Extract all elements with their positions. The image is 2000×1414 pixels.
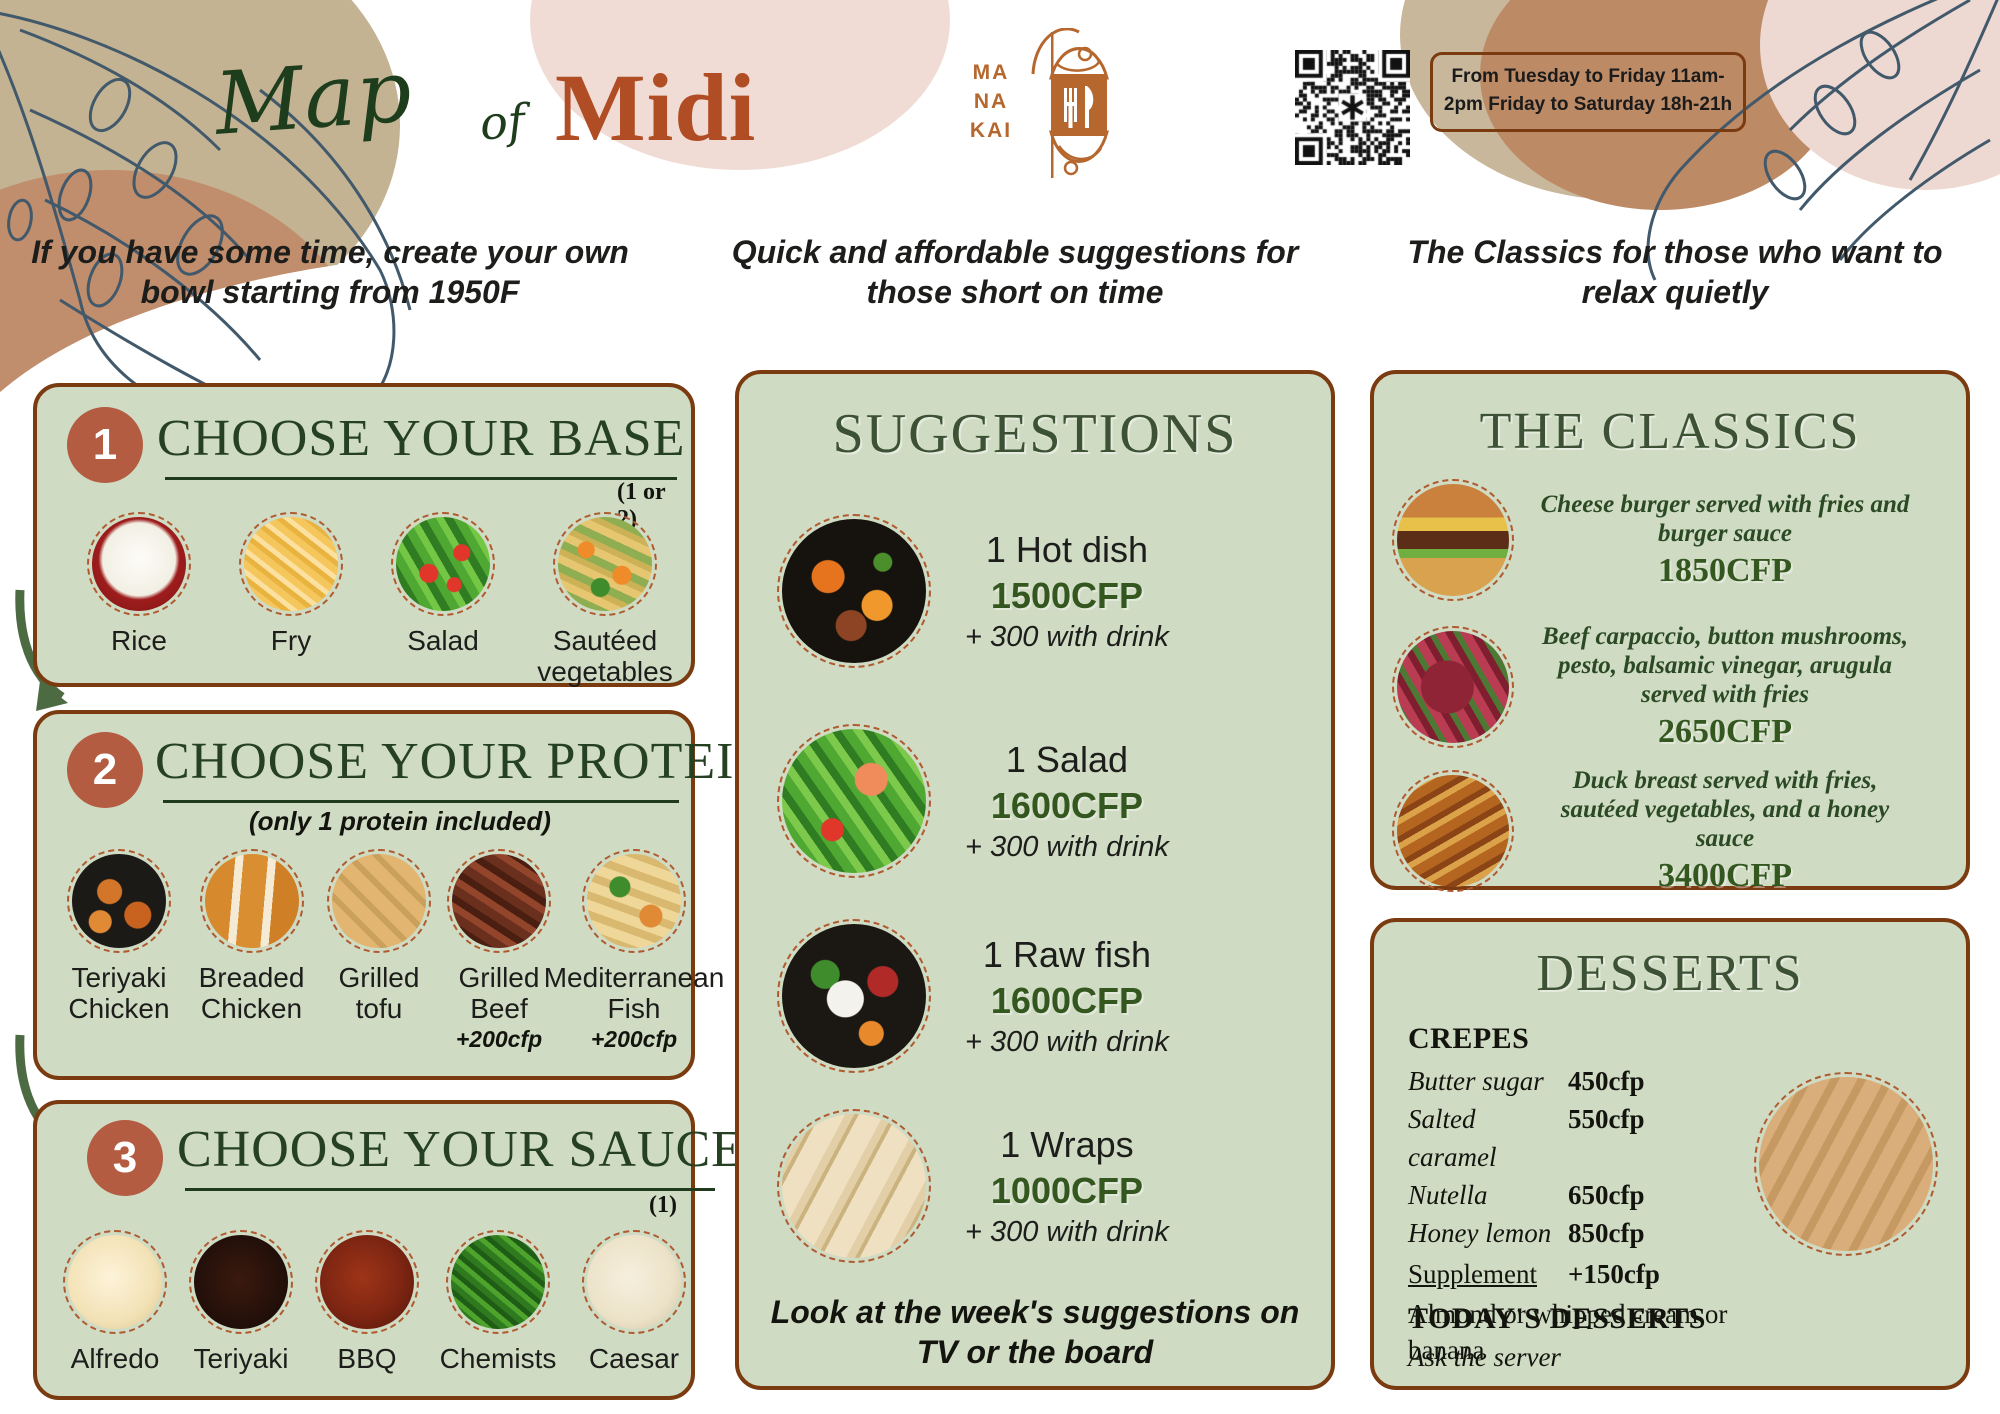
protein-item-extra: +200cfp bbox=[591, 1026, 677, 1053]
supplement-price: +150cfp bbox=[1568, 1254, 1660, 1294]
sauteed-vegetables-image bbox=[553, 512, 657, 616]
base-item-label: Rice bbox=[111, 625, 167, 656]
brand-script-title: Map bbox=[212, 41, 416, 155]
raw-fish-image bbox=[777, 919, 931, 1073]
classics-card: THE CLASSICS Cheese burger served with f… bbox=[1370, 370, 1970, 890]
sauce-item-label: Caesar bbox=[589, 1343, 679, 1374]
sauce-item[interactable]: BBQ bbox=[317, 1230, 417, 1374]
crepe-row: Butter sugar 450cfp bbox=[1408, 1062, 1728, 1100]
protein-title-rule bbox=[163, 800, 679, 803]
protein-item-extra: +200cfp bbox=[456, 1026, 542, 1053]
teriyaki-chicken-image bbox=[67, 849, 171, 953]
crepe-name: Butter sugar bbox=[1408, 1062, 1568, 1100]
page-header: Map of Midi MANAKAI From Tuesday to Frid… bbox=[0, 0, 2000, 250]
cheeseburger-image bbox=[1392, 479, 1514, 601]
desserts-title: DESSERTS bbox=[1374, 944, 1966, 1003]
classics-title: THE CLASSICS bbox=[1374, 402, 1966, 461]
protein-note: (only 1 protein included) bbox=[249, 806, 551, 837]
manakai-logo: MANAKAI bbox=[965, 20, 1115, 180]
protein-item[interactable]: Teriyaki Chicken bbox=[59, 849, 179, 1053]
sauce-item-label: Chemists bbox=[440, 1343, 557, 1374]
protein-item-label: Grilled tofu bbox=[324, 962, 434, 1024]
suggestion-addon: + 300 with drink bbox=[965, 621, 1169, 654]
suggestions-card: SUGGESTIONS 1 Hot dish 1500CFP + 300 wit… bbox=[735, 370, 1335, 1390]
logo-mark-icon bbox=[1027, 28, 1109, 180]
salad-dish-image bbox=[777, 724, 931, 878]
classic-row[interactable]: Beef carpaccio, button mushrooms, pesto,… bbox=[1392, 622, 1910, 751]
protein-item[interactable]: Grilled Beef +200cfp bbox=[444, 849, 554, 1053]
supplement-row: Supplement +150cfp bbox=[1408, 1254, 1728, 1294]
sauce-item-label: BBQ bbox=[337, 1343, 396, 1374]
fries-image bbox=[239, 512, 343, 616]
crepe-image bbox=[1754, 1072, 1938, 1256]
grilled-tofu-image bbox=[327, 849, 431, 953]
hot-dish-image bbox=[777, 514, 931, 668]
sauce-item-label: Teriyaki bbox=[194, 1343, 289, 1374]
classic-row[interactable]: Cheese burger served with fries and burg… bbox=[1392, 479, 1910, 601]
suggestions-title: SUGGESTIONS bbox=[739, 402, 1331, 466]
crepe-name: Salted caramel bbox=[1408, 1100, 1568, 1176]
classic-row[interactable]: Duck breast served with fries, sautéed v… bbox=[1392, 766, 1910, 895]
protein-item-label: Breaded Chicken bbox=[189, 962, 314, 1024]
suggestion-row[interactable]: 1 Raw fish 1600CFP + 300 with drink bbox=[777, 919, 1169, 1073]
base-title: CHOOSE YOUR BASE bbox=[157, 409, 685, 468]
middle-column-subhead: Quick and affordable suggestions for tho… bbox=[730, 232, 1300, 312]
classic-desc: Duck breast served with fries, sautéed v… bbox=[1540, 766, 1910, 853]
left-column-subhead: If you have some time, create your own b… bbox=[30, 232, 630, 312]
crepe-price: 850cfp bbox=[1568, 1214, 1645, 1252]
classic-desc: Cheese burger served with fries and burg… bbox=[1540, 490, 1910, 548]
protein-item[interactable]: Mediterranean Fish +200cfp bbox=[564, 849, 704, 1053]
sauce-title-rule bbox=[185, 1188, 715, 1191]
sauce-item[interactable]: Chemists bbox=[443, 1230, 553, 1374]
opening-hours: From Tuesday to Friday 11am-2pm Friday t… bbox=[1430, 52, 1746, 132]
crepe-price: 450cfp bbox=[1568, 1062, 1645, 1100]
protein-step-badge: 2 bbox=[67, 732, 143, 808]
today-desserts-heading: TODAY'S DESSERTS bbox=[1408, 1302, 1706, 1336]
protein-items: Teriyaki Chicken Breaded Chicken Grilled… bbox=[59, 849, 704, 1053]
suggestion-name: 1 Salad bbox=[965, 739, 1169, 781]
mediterranean-fish-image bbox=[582, 849, 686, 953]
right-column-subhead: The Classics for those who want to relax… bbox=[1370, 232, 1980, 312]
suggestion-row[interactable]: 1 Salad 1600CFP + 300 with drink bbox=[777, 724, 1169, 878]
bbq-sauce-image bbox=[315, 1230, 419, 1334]
sauce-item[interactable]: Alfredo bbox=[65, 1230, 165, 1374]
qr-code[interactable] bbox=[1295, 50, 1410, 165]
suggestion-addon: + 300 with drink bbox=[965, 1216, 1169, 1249]
caesar-sauce-image bbox=[582, 1230, 686, 1334]
classic-price: 2650CFP bbox=[1540, 713, 1910, 751]
protein-item[interactable]: Breaded Chicken bbox=[189, 849, 314, 1053]
base-item-label: Salad bbox=[407, 625, 479, 656]
suggestion-row[interactable]: 1 Wraps 1000CFP + 300 with drink bbox=[777, 1109, 1169, 1263]
rice-bowl-image bbox=[87, 512, 191, 616]
suggestion-price: 1600CFP bbox=[965, 785, 1169, 827]
base-card: 1 CHOOSE YOUR BASE (1 or 2) Rice Fry Sal… bbox=[33, 383, 695, 687]
protein-card: 2 CHOOSE YOUR PROTEIN (only 1 protein in… bbox=[33, 710, 695, 1080]
suggestion-addon: + 300 with drink bbox=[965, 1026, 1169, 1059]
today-desserts-note: Ask the server bbox=[1408, 1342, 1561, 1373]
crepe-row: Honey lemon 850cfp bbox=[1408, 1214, 1728, 1252]
suggestion-price: 1000CFP bbox=[965, 1170, 1169, 1212]
sauce-item[interactable]: Teriyaki bbox=[191, 1230, 291, 1374]
logo-letters: MANAKAI bbox=[965, 58, 1017, 145]
protein-item-label: Teriyaki Chicken bbox=[59, 962, 179, 1024]
suggestion-price: 1500CFP bbox=[965, 575, 1169, 617]
supplement-label: Supplement bbox=[1408, 1254, 1568, 1294]
classic-price: 3400CFP bbox=[1540, 857, 1910, 895]
classic-price: 1850CFP bbox=[1540, 552, 1910, 590]
protein-item[interactable]: Grilled tofu bbox=[324, 849, 434, 1053]
brand-title-accent: Midi bbox=[555, 52, 756, 163]
suggestion-name: 1 Raw fish bbox=[965, 934, 1169, 976]
sauce-step-badge: 3 bbox=[87, 1120, 163, 1196]
breaded-chicken-image bbox=[200, 849, 304, 953]
alfredo-sauce-image bbox=[63, 1230, 167, 1334]
sauce-title: CHOOSE YOUR SAUCE bbox=[177, 1120, 744, 1179]
suggestion-name: 1 Wraps bbox=[965, 1124, 1169, 1166]
suggestions-footer: Look at the week's suggestions on TV or … bbox=[759, 1292, 1311, 1372]
base-item-label: Sautéed vegetables bbox=[535, 625, 675, 687]
salad-image bbox=[391, 512, 495, 616]
base-step-badge: 1 bbox=[67, 407, 143, 483]
suggestion-addon: + 300 with drink bbox=[965, 831, 1169, 864]
beef-carpaccio-image bbox=[1392, 626, 1514, 748]
base-item[interactable]: Fry bbox=[231, 512, 351, 687]
base-title-rule bbox=[165, 477, 677, 480]
brand-script-of: of bbox=[478, 94, 526, 151]
sauce-item-label: Alfredo bbox=[71, 1343, 160, 1374]
crepe-row: Salted caramel 550cfp bbox=[1408, 1100, 1728, 1176]
crepes-heading: CREPES bbox=[1408, 1022, 1529, 1056]
protein-item-label: Mediterranean Fish bbox=[544, 962, 725, 1024]
chimichurri-sauce-image bbox=[446, 1230, 550, 1334]
crepe-name: Nutella bbox=[1408, 1176, 1568, 1214]
base-item[interactable]: Sautéed vegetables bbox=[535, 512, 675, 687]
sauce-card: 3 CHOOSE YOUR SAUCE (1) Alfredo Teriyaki… bbox=[33, 1100, 695, 1400]
sauce-items: Alfredo Teriyaki BBQ Chemists Caesar bbox=[65, 1230, 689, 1374]
suggestion-price: 1600CFP bbox=[965, 980, 1169, 1022]
suggestion-name: 1 Hot dish bbox=[965, 529, 1169, 571]
duck-breast-image bbox=[1392, 770, 1514, 892]
protein-title: CHOOSE YOUR PROTEIN bbox=[155, 732, 773, 791]
sauce-item[interactable]: Caesar bbox=[579, 1230, 689, 1374]
teriyaki-sauce-image bbox=[189, 1230, 293, 1334]
crepe-row: Nutella 650cfp bbox=[1408, 1176, 1728, 1214]
classic-desc: Beef carpaccio, button mushrooms, pesto,… bbox=[1540, 622, 1910, 709]
sauce-note: (1) bbox=[649, 1192, 677, 1219]
crepe-price: 550cfp bbox=[1568, 1100, 1645, 1176]
crepe-price: 650cfp bbox=[1568, 1176, 1645, 1214]
base-item[interactable]: Salad bbox=[383, 512, 503, 687]
base-item[interactable]: Rice bbox=[79, 512, 199, 687]
wraps-image bbox=[777, 1109, 931, 1263]
grilled-beef-image bbox=[447, 849, 551, 953]
protein-item-label: Grilled Beef bbox=[444, 962, 554, 1024]
base-items: Rice Fry Salad Sautéed vegetables bbox=[79, 512, 675, 687]
suggestion-row[interactable]: 1 Hot dish 1500CFP + 300 with drink bbox=[777, 514, 1169, 668]
desserts-card: DESSERTS CREPES Butter sugar 450cfp Salt… bbox=[1370, 918, 1970, 1390]
crepe-name: Honey lemon bbox=[1408, 1214, 1568, 1252]
base-item-label: Fry bbox=[271, 625, 311, 656]
